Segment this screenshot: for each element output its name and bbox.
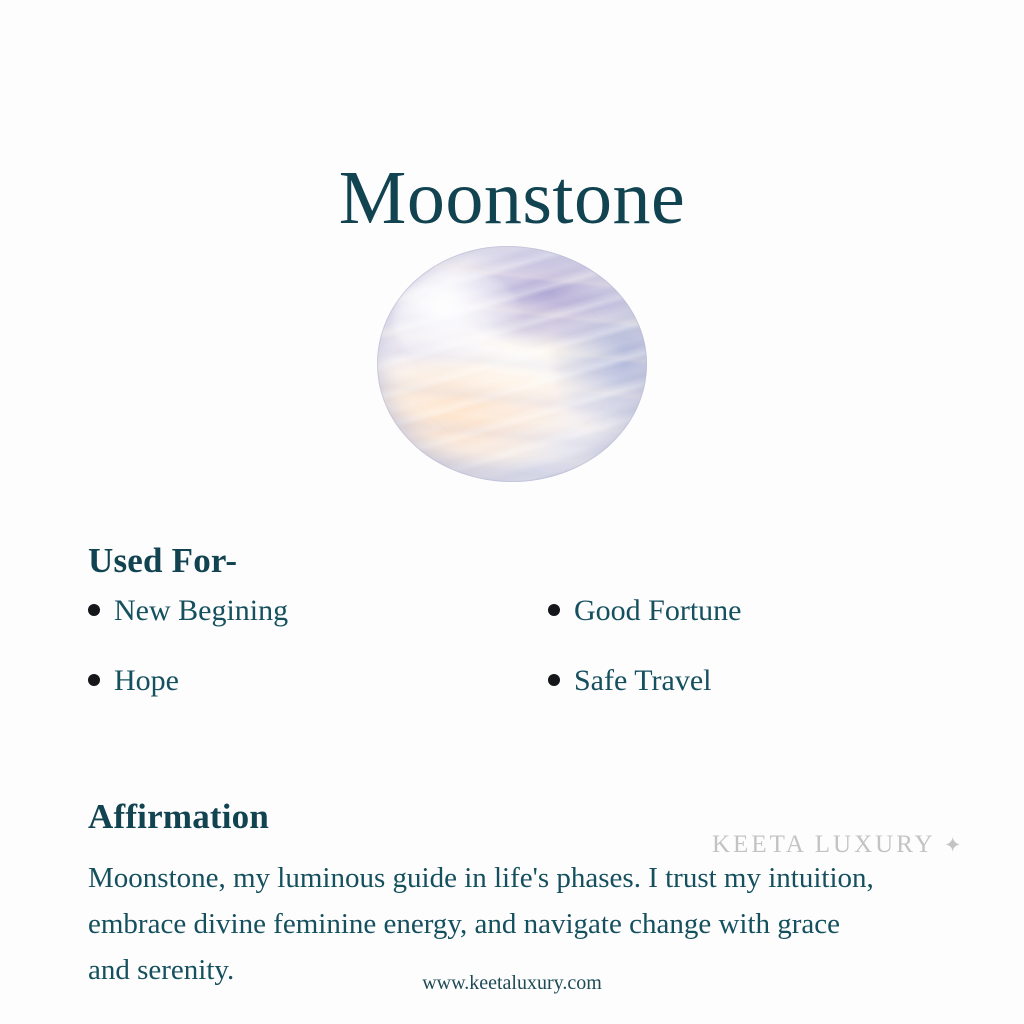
bullet-icon (548, 674, 560, 686)
list-item: Safe Travel (548, 666, 948, 696)
uses-list: New Begining Good Fortune Hope Safe Trav… (88, 596, 948, 696)
bullet-icon (88, 604, 100, 616)
affirmation-body: Moonstone, my luminous guide in life's p… (88, 855, 888, 993)
moonstone-cabochon-icon (377, 246, 647, 482)
list-item: Hope (88, 666, 548, 696)
use-label: New Begining (114, 596, 288, 626)
list-item: Good Fortune (548, 596, 948, 626)
bullet-icon (548, 604, 560, 616)
bullet-icon (88, 674, 100, 686)
gemstone-image (377, 246, 647, 482)
watermark-text: KEETA LUXURY (712, 831, 935, 858)
page-title: Moonstone (0, 159, 1024, 239)
gemstone-highlight (393, 270, 523, 369)
use-label: Good Fortune (574, 596, 742, 626)
use-label: Hope (114, 666, 179, 696)
used-for-heading: Used For- (88, 541, 237, 581)
list-item: New Begining (88, 596, 548, 626)
use-label: Safe Travel (574, 666, 712, 696)
moonstone-info-card: Moonstone Used For- New Begining Good Fo… (0, 0, 1024, 1024)
sparkle-icon: ✦ (944, 833, 965, 857)
affirmation-heading: Affirmation (88, 797, 269, 837)
